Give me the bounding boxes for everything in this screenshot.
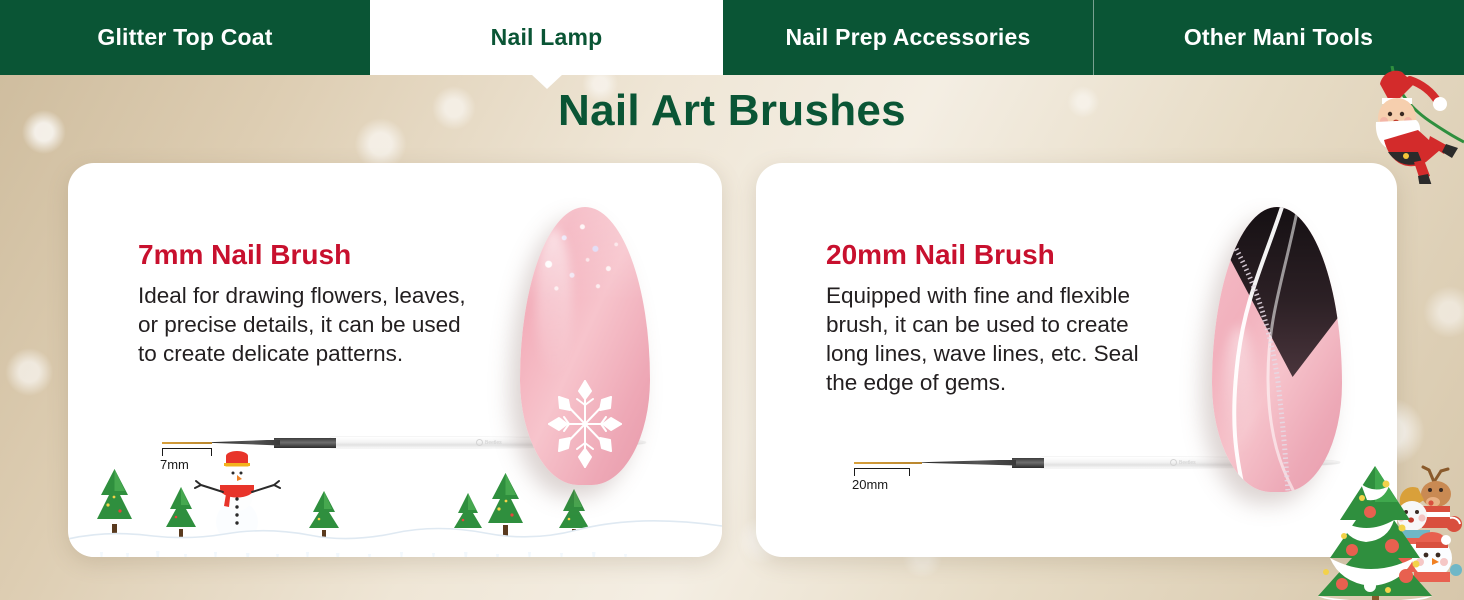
pine-tree-icon bbox=[559, 489, 589, 539]
brush-tip bbox=[854, 462, 922, 464]
tab-glitter-top-coat[interactable]: Glitter Top Coat bbox=[0, 0, 370, 75]
pine-tree-icon bbox=[97, 469, 132, 538]
logo-ring-icon bbox=[476, 439, 483, 446]
category-tab-bar: Glitter Top Coat Nail Lamp Nail Prep Acc… bbox=[0, 0, 1464, 75]
nail-gloss-highlight bbox=[1224, 327, 1254, 457]
tab-nail-lamp[interactable]: Nail Lamp bbox=[370, 0, 723, 75]
brush-bristles bbox=[920, 460, 1016, 466]
logo-text: Beetles bbox=[485, 440, 502, 446]
card-heading: 7mm Nail Brush bbox=[138, 239, 351, 271]
brush-ferrule bbox=[274, 438, 336, 448]
pine-tree-icon bbox=[309, 491, 339, 539]
measure-bracket bbox=[162, 448, 212, 456]
tab-label: Nail Lamp bbox=[491, 24, 603, 51]
snowflake-icon bbox=[541, 375, 629, 473]
tab-label: Nail Prep Accessories bbox=[786, 24, 1031, 51]
christmas-tree-with-characters-icon bbox=[1306, 458, 1464, 600]
nail-swatch-black-pink bbox=[1212, 207, 1342, 492]
measure-bracket bbox=[854, 468, 910, 476]
pine-tree-icon bbox=[166, 487, 196, 539]
pine-tree-icon bbox=[454, 493, 482, 539]
brush-ferrule bbox=[1012, 458, 1044, 468]
tab-other-mani-tools[interactable]: Other Mani Tools bbox=[1093, 0, 1464, 75]
page-title: Nail Art Brushes bbox=[0, 86, 1464, 136]
brush-bristles bbox=[208, 440, 280, 446]
santa-climbing-rope-icon bbox=[1352, 66, 1464, 184]
logo-ring-icon bbox=[1170, 459, 1177, 466]
brush-brand-logo: Beetles bbox=[476, 437, 522, 448]
nail-gloss-highlight bbox=[536, 229, 572, 379]
snowman-character-icon bbox=[1412, 532, 1462, 582]
tab-label: Glitter Top Coat bbox=[97, 24, 272, 51]
tab-label: Other Mani Tools bbox=[1184, 24, 1373, 51]
card-heading: 20mm Nail Brush bbox=[826, 239, 1055, 271]
measure-label: 20mm bbox=[852, 477, 888, 492]
active-tab-caret-icon bbox=[531, 74, 563, 89]
promo-banner: Glitter Top Coat Nail Lamp Nail Prep Acc… bbox=[0, 0, 1464, 600]
brush-tip bbox=[162, 442, 212, 444]
brush-brand-logo: Beetles bbox=[1170, 457, 1216, 468]
card-description: Equipped with fine and flexible brush, i… bbox=[826, 281, 1171, 397]
logo-text: Beetles bbox=[1179, 460, 1196, 466]
card-description: Ideal for drawing flowers, leaves, or pr… bbox=[138, 281, 483, 368]
tab-nail-prep-accessories[interactable]: Nail Prep Accessories bbox=[723, 0, 1093, 75]
measure-label: 7mm bbox=[160, 457, 189, 472]
nail-swatch-snowflake bbox=[520, 207, 650, 485]
reindeer-icon bbox=[1421, 467, 1462, 532]
pine-tree-icon bbox=[488, 473, 523, 539]
snow-ground-icon bbox=[68, 521, 722, 557]
